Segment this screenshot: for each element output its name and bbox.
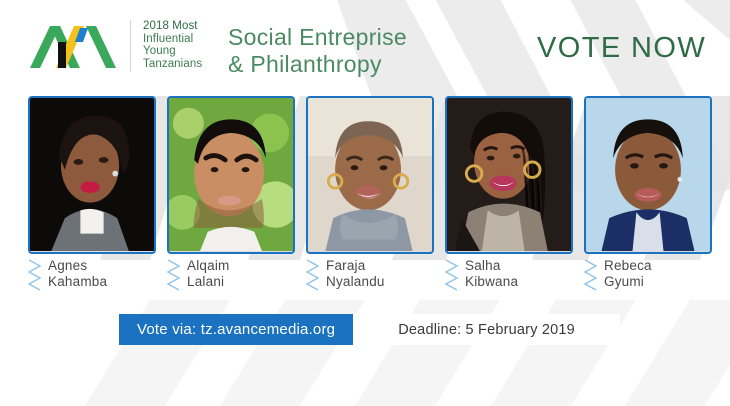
portrait-salha-kibwana <box>447 98 571 251</box>
portrait-faraja-nyalandu <box>308 98 432 251</box>
nominee-photo-frame-5 <box>584 96 712 254</box>
award-title-line3: Young <box>143 45 223 58</box>
zigzag-icon <box>28 259 42 293</box>
nominee-card-5[interactable] <box>584 96 712 254</box>
nominee-name-text-1: AgnesKahamba <box>48 258 107 289</box>
poster-header: 2018 Most Influential Young Tanzanians S… <box>0 0 730 92</box>
nominee-photo-frame-3 <box>306 96 434 254</box>
logo-divider <box>130 20 131 72</box>
zigzag-icon <box>445 259 459 293</box>
nominee-photo-frame-2 <box>167 96 295 254</box>
maiyt-logo-icon <box>28 22 120 70</box>
award-title-line1: 2018 Most <box>143 20 223 33</box>
nominee-name-text-4: SalhaKibwana <box>465 258 518 289</box>
zigzag-icon <box>306 259 320 293</box>
deadline-label: Deadline: 5 February 2019 <box>353 314 620 345</box>
nominee-photo-row <box>0 96 730 256</box>
poster-canvas: 2018 Most Influential Young Tanzanians S… <box>0 0 730 406</box>
nominee-card-4[interactable] <box>445 96 573 254</box>
nominee-name-text-3: FarajaNyalandu <box>326 258 385 289</box>
category-title-line2: & Philanthropy <box>228 51 518 78</box>
category-title-line1: Social Entreprise <box>228 24 518 51</box>
zigzag-icon <box>584 259 598 293</box>
award-title: 2018 Most Influential Young Tanzanians <box>143 20 223 70</box>
vote-url-label[interactable]: Vote via: tz.avancemedia.org <box>119 314 353 345</box>
vote-now-headline: VOTE NOW <box>537 32 706 65</box>
nominee-card-2[interactable] <box>167 96 295 254</box>
nominee-card-1[interactable] <box>28 96 156 254</box>
nominee-name-text-5: RebecaGyumi <box>604 258 652 289</box>
nominee-photo-frame-1 <box>28 96 156 254</box>
nominee-card-3[interactable] <box>306 96 434 254</box>
poster-footer: POWERED BY: AvanceMedia IN PARTNERSHIP W… <box>0 356 730 406</box>
award-title-line4: Tanzanians <box>143 58 223 71</box>
vote-bar[interactable]: Vote via: tz.avancemedia.org Deadline: 5… <box>119 314 620 345</box>
category-title: Social Entreprise & Philanthropy <box>228 24 518 77</box>
award-title-line2: Influential <box>143 33 223 46</box>
portrait-agnes-kahamba <box>30 98 154 251</box>
nominee-name-text-2: AlqaimLalani <box>187 258 229 289</box>
portrait-alqaim-lalani <box>169 98 293 251</box>
nominee-photo-frame-4 <box>445 96 573 254</box>
zigzag-icon <box>167 259 181 293</box>
portrait-rebeca-gyumi <box>586 98 710 251</box>
nominee-name-row: AgnesKahamba AlqaimLalani FarajaNyalandu… <box>0 258 730 302</box>
